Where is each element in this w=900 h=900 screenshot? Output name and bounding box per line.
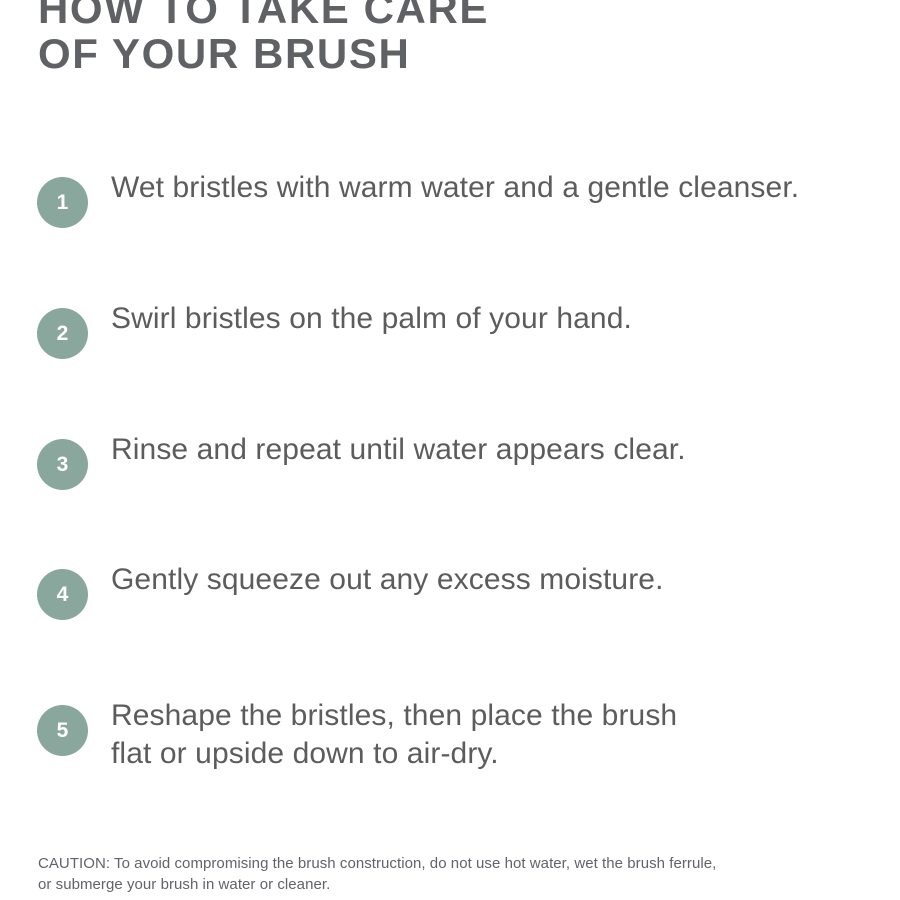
page-title: HOW TO TAKE CARE OF YOUR BRUSH xyxy=(38,0,798,76)
list-item: 3 Rinse and repeat until water appears c… xyxy=(37,422,867,506)
step-text-line: Reshape the bristles, then place the bru… xyxy=(111,697,867,735)
step-text-line: Rinse and repeat until water appears cle… xyxy=(111,431,867,469)
step-text-line: Gently squeeze out any excess moisture. xyxy=(111,561,867,599)
step-number-badge-4: 4 xyxy=(37,569,88,620)
step-text-line: flat or upside down to air-dry. xyxy=(111,735,867,773)
brush-care-instruction-card: HOW TO TAKE CARE OF YOUR BRUSH 1 Wet bri… xyxy=(0,0,900,900)
step-number-badge-2: 2 xyxy=(37,308,88,359)
list-item: 4 Gently squeeze out any excess moisture… xyxy=(37,552,867,636)
step-text-line: Swirl bristles on the palm of your hand. xyxy=(111,300,867,338)
step-text-5: Reshape the bristles, then place the bru… xyxy=(88,697,867,773)
page-title-line-1: HOW TO TAKE CARE xyxy=(38,0,798,31)
page-title-line-2: OF YOUR BRUSH xyxy=(38,31,798,76)
step-text-4: Gently squeeze out any excess moisture. xyxy=(88,552,867,599)
step-number-badge-5: 5 xyxy=(37,705,88,756)
list-item: 5 Reshape the bristles, then place the b… xyxy=(37,697,867,781)
step-text-1: Wet bristles with warm water and a gentl… xyxy=(88,160,867,207)
caution-line-1: CAUTION: To avoid compromising the brush… xyxy=(38,853,878,874)
step-text-line: Wet bristles with warm water and a gentl… xyxy=(111,169,867,207)
step-number-badge-1: 1 xyxy=(37,177,88,228)
step-text-3: Rinse and repeat until water appears cle… xyxy=(88,422,867,469)
caution-line-2: or submerge your brush in water or clean… xyxy=(38,874,878,895)
step-number-badge-3: 3 xyxy=(37,439,88,490)
list-item: 2 Swirl bristles on the palm of your han… xyxy=(37,291,867,375)
step-text-2: Swirl bristles on the palm of your hand. xyxy=(88,291,867,338)
steps-list: 1 Wet bristles with warm water and a gen… xyxy=(37,160,867,781)
list-item: 1 Wet bristles with warm water and a gen… xyxy=(37,160,867,244)
caution-note: CAUTION: To avoid compromising the brush… xyxy=(38,853,878,895)
